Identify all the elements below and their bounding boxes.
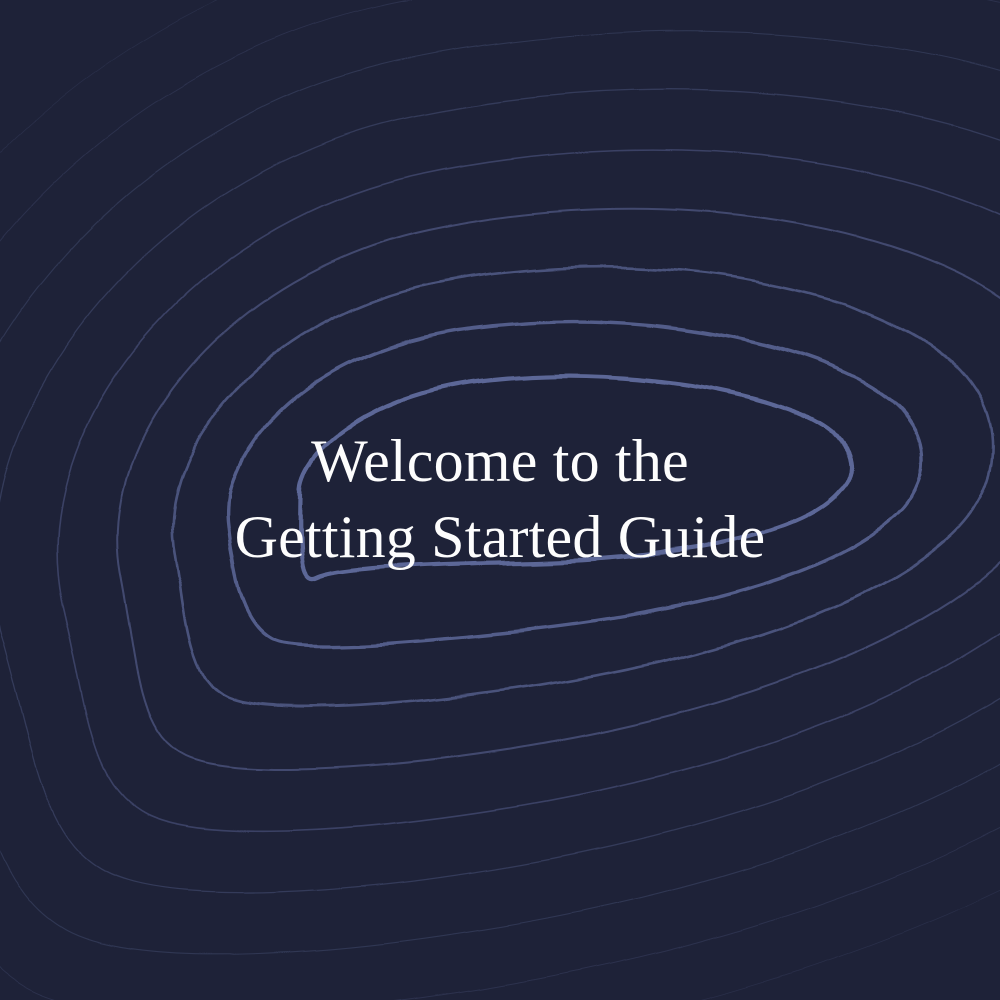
- background-fill: [0, 0, 1000, 1000]
- topographic-contour-background: [0, 0, 1000, 1000]
- hero-cover-canvas: Welcome to the Getting Started Guide: [0, 0, 1000, 1000]
